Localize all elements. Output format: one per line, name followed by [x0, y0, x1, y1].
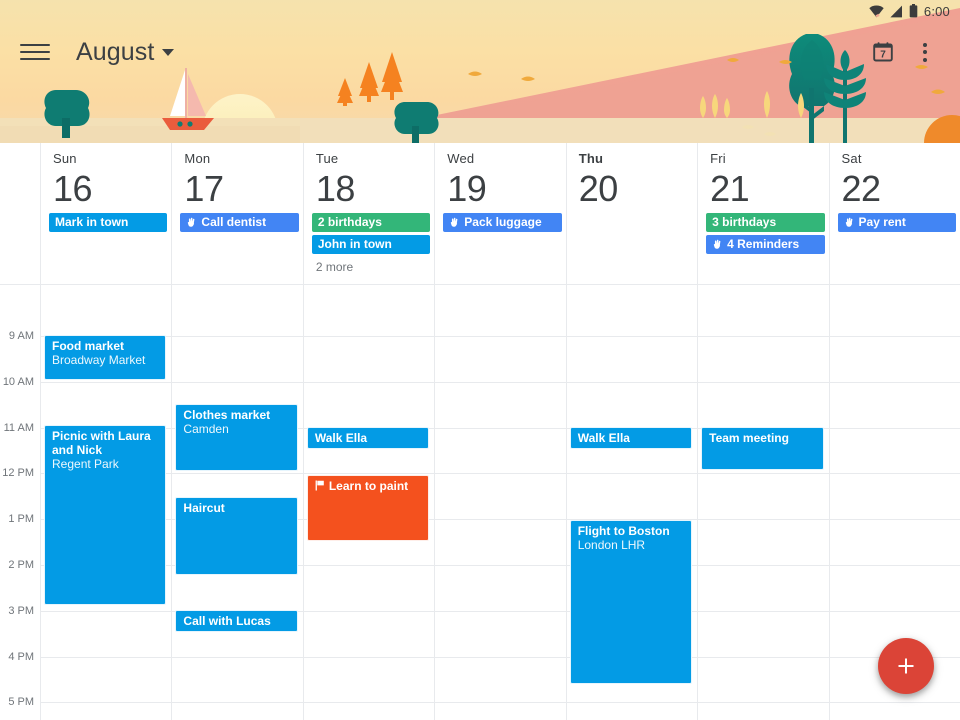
all-day-event-chip[interactable]: 2 birthdays	[312, 213, 430, 232]
day-gridline	[303, 285, 304, 720]
event-location: London LHR	[578, 538, 685, 552]
all-day-events: Pack luggage	[443, 213, 561, 235]
day-column-header-sun[interactable]: Sun16Mark in town	[40, 143, 171, 284]
day-name: Sat	[842, 151, 950, 167]
day-name: Fri	[710, 151, 818, 167]
event-title: Learn to paint	[329, 479, 408, 493]
day-name: Mon	[184, 151, 292, 167]
event-title: Food market	[52, 339, 124, 353]
today-button[interactable]: 7	[862, 31, 904, 73]
header-gutter	[0, 143, 40, 284]
overflow-menu-button[interactable]	[904, 31, 946, 73]
day-number[interactable]: 18	[316, 169, 424, 209]
month-label: August	[76, 38, 154, 67]
hour-gridline	[40, 336, 960, 337]
wifi-icon	[869, 5, 884, 18]
hour-label: 11 AM	[0, 423, 34, 434]
day-gridline	[171, 285, 172, 720]
hour-gridline	[40, 473, 960, 474]
event-title-row: Walk Ella	[315, 431, 422, 445]
event-title: Walk Ella	[578, 431, 630, 445]
day-column-header-fri[interactable]: Fri213 birthdays4 Reminders	[697, 143, 828, 284]
calendar-event[interactable]: Flight to BostonLondon LHR	[570, 520, 692, 684]
day-gridline	[40, 285, 41, 720]
hamburger-menu-icon[interactable]	[18, 35, 52, 69]
event-location: Broadway Market	[52, 353, 159, 367]
all-day-event-label: 4 Reminders	[727, 235, 799, 254]
all-day-event-chip[interactable]: 4 Reminders	[706, 235, 824, 254]
hour-label: 4 PM	[0, 652, 34, 663]
day-number[interactable]: 16	[53, 169, 161, 209]
goal-flag-icon	[315, 480, 325, 494]
event-title-row: Clothes market	[183, 408, 290, 422]
calendar-event[interactable]: Food marketBroadway Market	[44, 335, 166, 380]
event-location: Camden	[183, 422, 290, 436]
app-toolbar: August 7	[0, 22, 960, 82]
all-day-event-label: Call dentist	[201, 213, 266, 232]
signal-icon	[890, 5, 903, 18]
reminder-icon	[844, 217, 855, 228]
event-title: Clothes market	[183, 408, 270, 422]
event-title: Walk Ella	[315, 431, 367, 445]
day-name: Thu	[579, 151, 687, 167]
all-day-event-chip[interactable]: Pack luggage	[443, 213, 561, 232]
event-title-row: Walk Ella	[578, 431, 685, 445]
day-header-row: Sun16Mark in townMon17Call dentistTue182…	[0, 143, 960, 285]
day-gridline	[566, 285, 567, 720]
day-column-header-sat[interactable]: Sat22Pay rent	[829, 143, 960, 284]
hour-gridline	[40, 657, 960, 658]
all-day-event-label: Pack luggage	[464, 213, 541, 232]
calendar-event[interactable]: Picnic with Laura and NickRegent Park	[44, 425, 166, 605]
hour-label: 1 PM	[0, 514, 34, 525]
calendar-event[interactable]: Clothes marketCamden	[175, 404, 297, 471]
day-columns: Sun16Mark in townMon17Call dentistTue182…	[40, 143, 960, 284]
all-day-event-label: 3 birthdays	[712, 213, 776, 232]
calendar-event[interactable]: Walk Ella	[570, 427, 692, 449]
reminder-icon	[712, 239, 723, 250]
day-number[interactable]: 22	[842, 169, 950, 209]
event-title: Haircut	[183, 501, 224, 515]
day-column-header-tue[interactable]: Tue182 birthdaysJohn in town2 more	[303, 143, 434, 284]
event-title: Team meeting	[709, 431, 789, 445]
day-name: Wed	[447, 151, 555, 167]
day-name: Sun	[53, 151, 161, 167]
hour-label: 3 PM	[0, 606, 34, 617]
chevron-down-icon	[162, 49, 174, 56]
more-events-link[interactable]: 2 more	[312, 257, 430, 275]
all-day-events: Mark in town	[49, 213, 167, 235]
all-day-event-label: 2 birthdays	[318, 213, 382, 232]
all-day-event-label: John in town	[318, 235, 392, 254]
all-day-event-chip[interactable]: Call dentist	[180, 213, 298, 232]
overflow-menu-icon	[923, 43, 927, 62]
calendar-event[interactable]: Walk Ella	[307, 427, 429, 449]
hour-label: 10 AM	[0, 377, 34, 388]
event-title: Picnic with Laura and Nick	[52, 429, 159, 457]
all-day-event-chip[interactable]: John in town	[312, 235, 430, 254]
day-column-header-thu[interactable]: Thu20	[566, 143, 697, 284]
day-gridline	[434, 285, 435, 720]
calendar-event[interactable]: Call with Lucas	[175, 610, 297, 632]
day-number[interactable]: 19	[447, 169, 555, 209]
day-number[interactable]: 20	[579, 169, 687, 209]
event-title: Call with Lucas	[183, 614, 270, 628]
event-title-row: Picnic with Laura and Nick	[52, 429, 159, 457]
all-day-events: Pay rent	[838, 213, 956, 235]
plus-icon	[894, 654, 918, 678]
event-title-row: Team meeting	[709, 431, 816, 445]
reminder-icon	[449, 217, 460, 228]
all-day-events: 3 birthdays4 Reminders	[706, 213, 824, 257]
hour-gridline	[40, 382, 960, 383]
day-gridline	[829, 285, 830, 720]
all-day-events: Call dentist	[180, 213, 298, 235]
month-selector[interactable]: August	[76, 38, 174, 67]
status-bar: 6:00	[0, 0, 960, 22]
all-day-event-label: Mark in town	[55, 213, 128, 232]
day-column-header-mon[interactable]: Mon17Call dentist	[171, 143, 302, 284]
hour-label: 2 PM	[0, 560, 34, 571]
event-title-row: Learn to paint	[315, 479, 422, 493]
day-number[interactable]: 21	[710, 169, 818, 209]
calendar-app: 6:00 August 7 Sun16Mark i	[0, 0, 960, 720]
all-day-event-chip[interactable]: 3 birthdays	[706, 213, 824, 232]
reminder-icon	[186, 217, 197, 228]
hour-label: 12 PM	[0, 468, 34, 479]
event-title-row: Call with Lucas	[183, 614, 290, 628]
status-bar-time: 6:00	[924, 4, 950, 19]
hour-gridline	[40, 702, 960, 703]
calendar-event[interactable]: Haircut	[175, 497, 297, 575]
hour-label: 5 PM	[0, 697, 34, 708]
day-gridline	[697, 285, 698, 720]
event-title-row: Food market	[52, 339, 159, 353]
day-column-header-wed[interactable]: Wed19Pack luggage	[434, 143, 565, 284]
all-day-events: 2 birthdaysJohn in town2 more	[312, 213, 430, 275]
hour-label: 9 AM	[0, 331, 34, 342]
calendar-event[interactable]: Learn to paint	[307, 475, 429, 541]
all-day-event-label: Pay rent	[859, 213, 906, 232]
day-number[interactable]: 17	[184, 169, 292, 209]
event-title-row: Flight to Boston	[578, 524, 685, 538]
day-name: Tue	[316, 151, 424, 167]
today-icon-day-number: 7	[880, 50, 886, 61]
calendar-today-icon: 7	[871, 40, 895, 64]
event-location: Regent Park	[52, 457, 159, 471]
event-title: Flight to Boston	[578, 524, 670, 538]
event-title-row: Haircut	[183, 501, 290, 515]
battery-icon	[909, 4, 918, 18]
calendar-event[interactable]: Team meeting	[701, 427, 823, 470]
time-grid[interactable]: 9 AM10 AM11 AM12 PM1 PM2 PM3 PM4 PM5 PMF…	[0, 285, 960, 720]
create-event-fab[interactable]	[878, 638, 934, 694]
all-day-event-chip[interactable]: Pay rent	[838, 213, 956, 232]
all-day-event-chip[interactable]: Mark in town	[49, 213, 167, 232]
